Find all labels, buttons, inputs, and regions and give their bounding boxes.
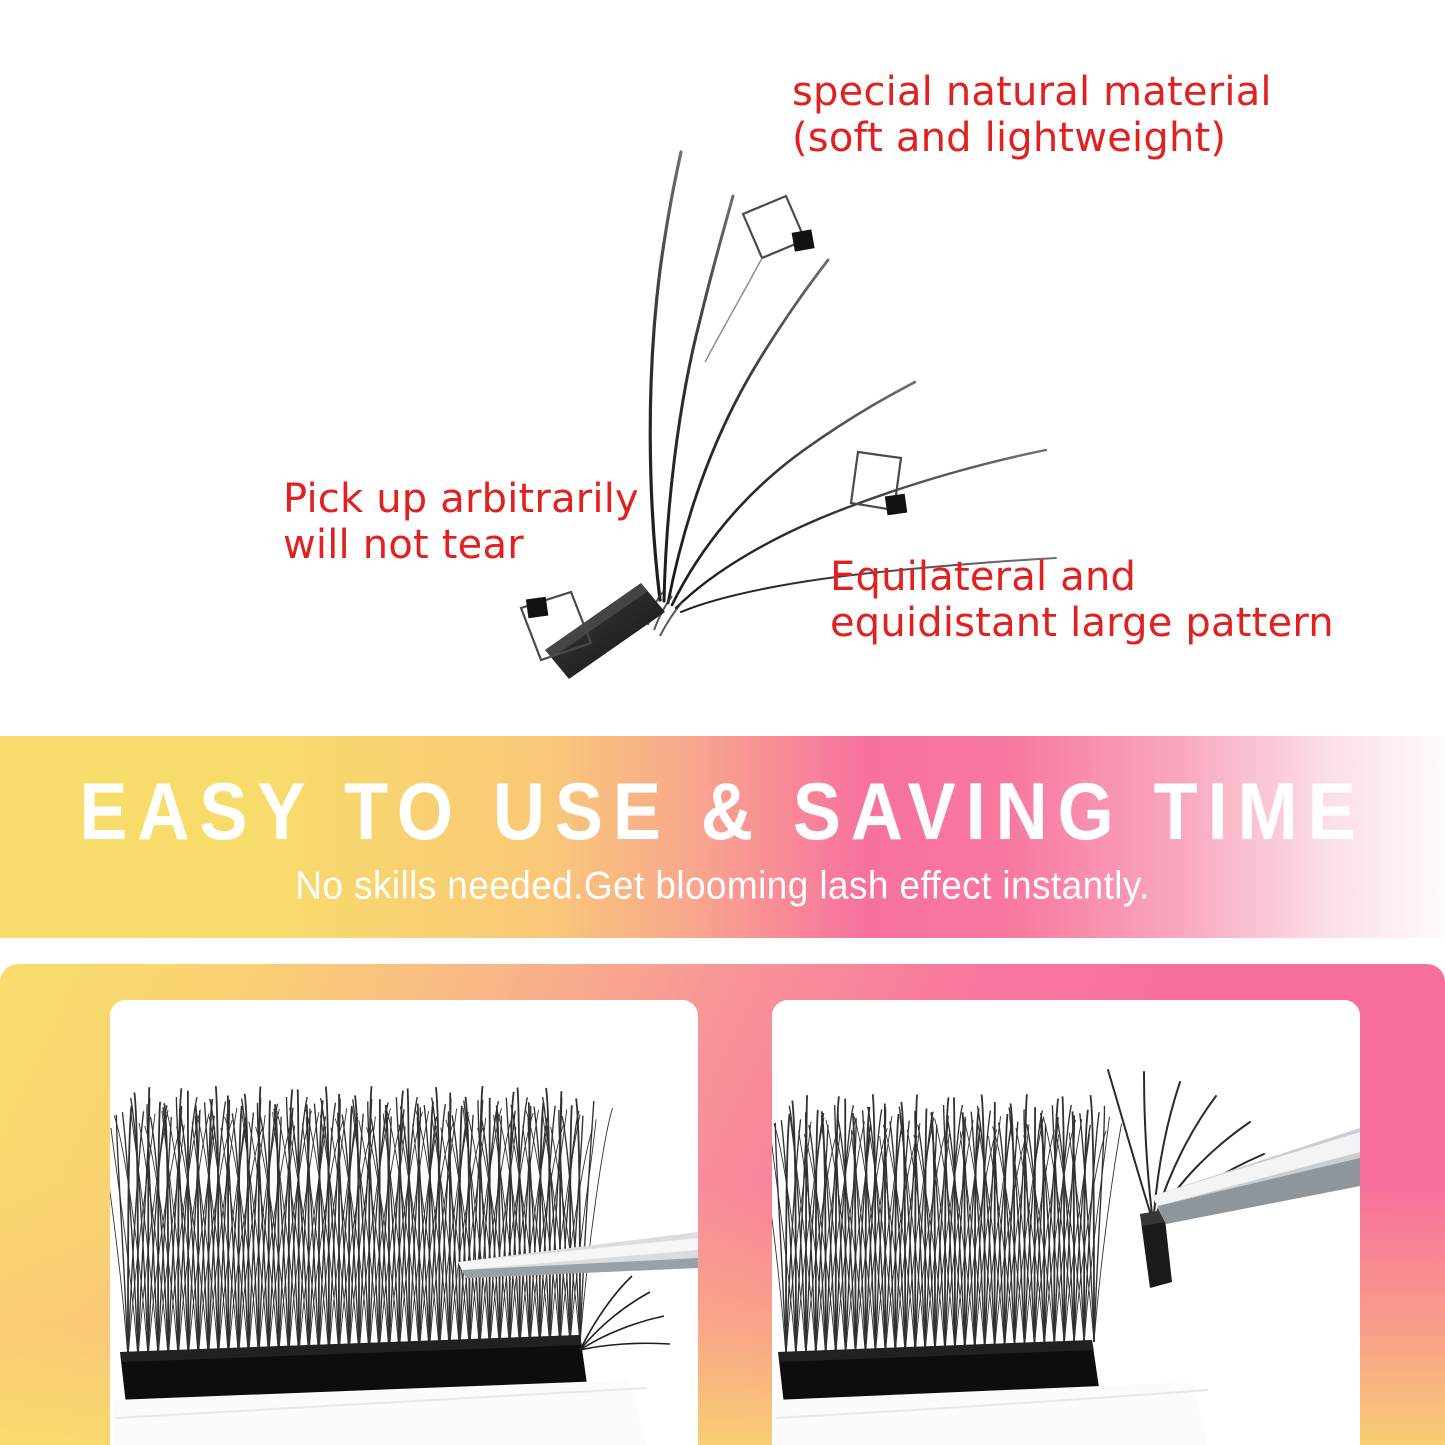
annotation-marker-middle bbox=[851, 452, 907, 515]
photo-panel-lash-tray[interactable] bbox=[110, 1000, 698, 1445]
lash-pickup-photo bbox=[772, 1000, 1360, 1445]
lash-base bbox=[545, 583, 665, 679]
product-detail-page: special natural material (soft and light… bbox=[0, 0, 1445, 1445]
easy-to-use-banner: EASY TO USE & SAVING TIME No skills need… bbox=[0, 736, 1445, 938]
lash-tray-photo bbox=[110, 1000, 698, 1445]
banner-subheadline: No skills needed.Get blooming lash effec… bbox=[0, 864, 1445, 908]
callout-pick-up: Pick up arbitrarily will not tear bbox=[283, 477, 639, 568]
lash-fiber-group bbox=[650, 152, 1056, 612]
annotation-marker-upper bbox=[705, 196, 815, 362]
callout-material: special natural material (soft and light… bbox=[792, 70, 1272, 161]
feature-diagram-section: special natural material (soft and light… bbox=[0, 0, 1445, 735]
callout-pattern: Equilateral and equidistant large patter… bbox=[830, 555, 1334, 646]
photo-panel-lash-pickup[interactable] bbox=[772, 1000, 1360, 1445]
banner-headline: EASY TO USE & SAVING TIME bbox=[0, 766, 1445, 858]
